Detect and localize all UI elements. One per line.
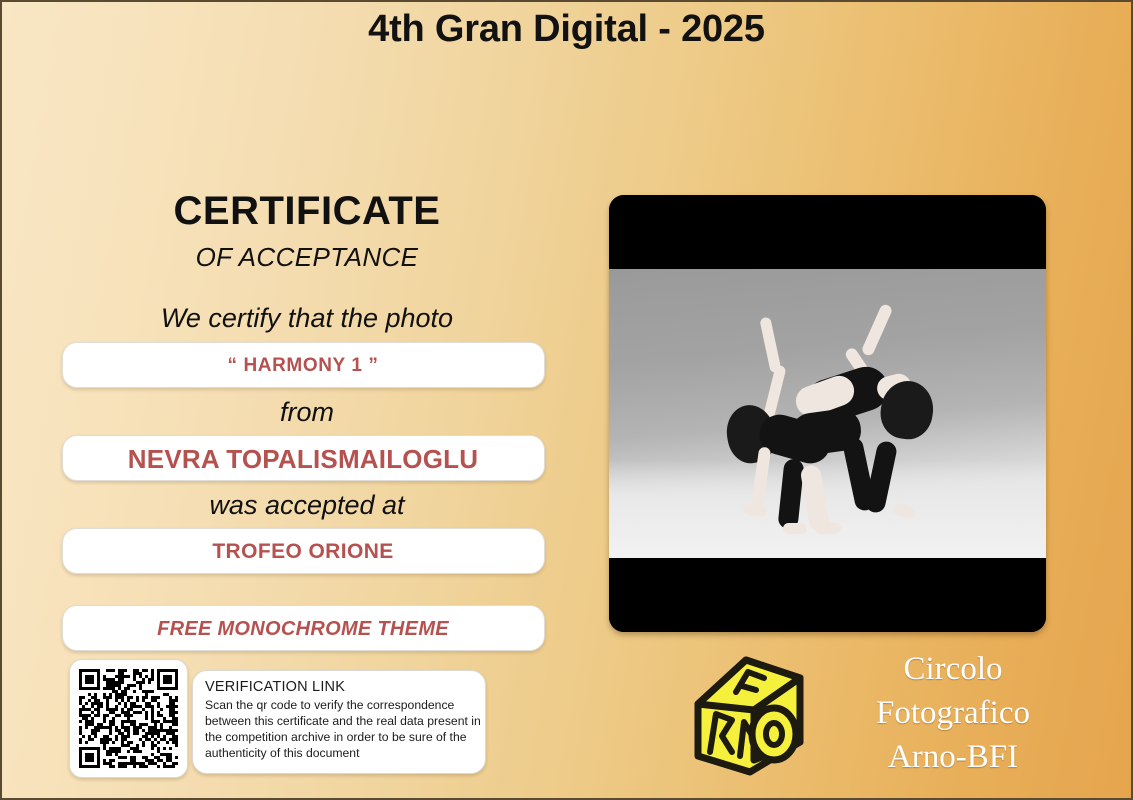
certificate-subheading: OF ACCEPTANCE: [0, 242, 600, 273]
photo-floor: [609, 460, 1046, 558]
section-field: TROFEO ORIONE: [62, 528, 545, 574]
photo-content: [609, 269, 1046, 558]
author-field: NEVRA TOPALISMAILOGLU: [62, 435, 545, 481]
verification-body: Scan the qr code to verify the correspon…: [205, 697, 483, 761]
certificate-text-column: CERTIFICATE OF ACCEPTANCE We certify tha…: [0, 190, 600, 651]
photo-title-field: “ HARMONY 1 ”: [62, 342, 545, 388]
verification-title: VERIFICATION LINK: [205, 679, 485, 695]
photo-title-value: “ HARMONY 1 ”: [63, 343, 544, 389]
section-value: TROFEO ORIONE: [63, 529, 544, 575]
photo-letterbox-top: [609, 195, 1046, 269]
theme-value: FREE MONOCHROME THEME: [63, 606, 544, 652]
qr-code-icon[interactable]: [79, 669, 178, 768]
qr-code-box[interactable]: [69, 659, 188, 778]
photo-letterbox-bottom: [609, 558, 1046, 632]
certificate-title-bar: 4th Gran Digital - 2025: [0, 0, 1133, 58]
club-name-line-1: Circolo: [838, 648, 1068, 692]
lead-line-from: from: [0, 397, 600, 428]
author-value: NEVRA TOPALISMAILOGLU: [63, 436, 544, 482]
arno-camera-logo-icon: [676, 648, 816, 780]
lead-line-accepted: was accepted at: [0, 490, 600, 521]
page-title: 4th Gran Digital - 2025: [368, 8, 765, 51]
club-name-line-2: Fotografico: [838, 692, 1068, 736]
certificate-page: 4th Gran Digital - 2025 CERTIFICATE OF A…: [0, 0, 1133, 800]
club-name: Circolo Fotografico Arno-BFI: [838, 648, 1068, 780]
lead-line-photo: We certify that the photo: [0, 303, 600, 334]
certificate-heading: CERTIFICATE: [0, 190, 600, 232]
accepted-photo: [609, 195, 1046, 632]
verification-link-box: VERIFICATION LINK Scan the qr code to ve…: [192, 670, 486, 774]
club-name-line-3: Arno-BFI: [838, 736, 1068, 780]
theme-field: FREE MONOCHROME THEME: [62, 605, 545, 651]
